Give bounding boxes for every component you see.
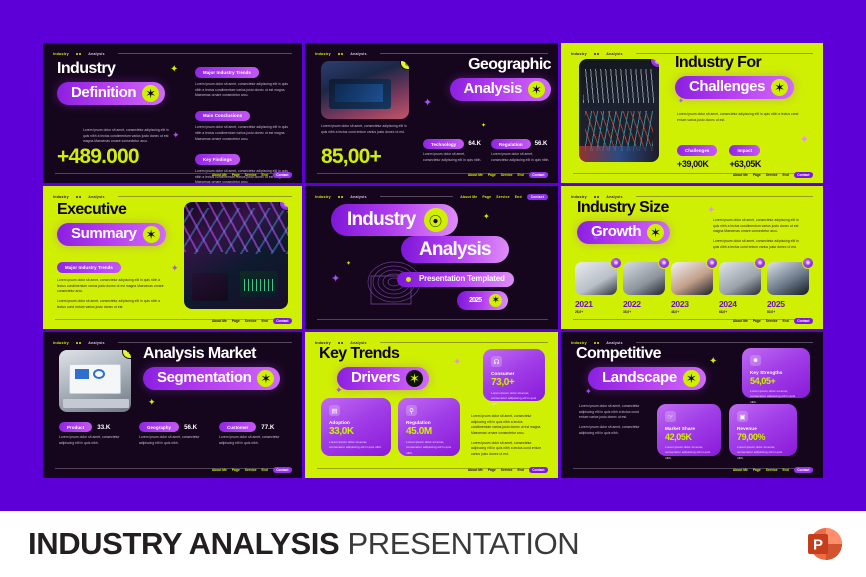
top-nav-cta[interactable]: Contact [527, 194, 548, 200]
asterisk-icon: ✶ [406, 370, 423, 387]
slide7-stat-text: Lorem ipsum dolor sit amet, consectetur … [219, 435, 290, 446]
slide2-title-line1: Geographic [423, 57, 551, 74]
slide-geographic-analysis[interactable]: Industry Analysis ◉ Lorem ipsum dolor si… [305, 43, 558, 183]
caption-bar: INDUSTRY ANALYSIS PRESENTATION P [0, 508, 866, 577]
slide2-title-pill-label: Analysis [464, 81, 523, 97]
slide-bottom-nav: About Me Page Service End Contact [733, 172, 813, 178]
slide7-heading: Analysis Market Segmentation ✶ [143, 346, 293, 390]
slide2-stat-pill[interactable]: Technology [423, 139, 464, 149]
slide-executive-summary[interactable]: Industry Analysis Executive Summary ✶ Ma… [43, 186, 302, 329]
slide6-year-label: 2022 [623, 299, 665, 309]
slide8-card-label: Adoption [329, 420, 383, 425]
slide9-card-value: 54,05+ [750, 376, 802, 386]
nav-dots-icon [338, 53, 344, 55]
nav-brand: Industry [53, 195, 69, 199]
slide6-text-1: Lorem ipsum dolor sit amet, consectetur … [713, 218, 805, 235]
slide2-photo: ◉ [321, 61, 409, 119]
slide3-photo: ◉ [579, 59, 659, 162]
nav-dots-icon [594, 196, 600, 198]
slide8-card-consumer[interactable]: ☊ Consumer 73,0+ Lorem ipsum dolor sit a… [483, 349, 545, 401]
screenshot-root: Industry Analysis Industry Definition ✶ … [0, 0, 866, 577]
slide5-title-2-label: Analysis [419, 240, 491, 259]
slide2-stat-value: 56.K [535, 141, 548, 147]
bottom-nav-link[interactable]: About Me [212, 173, 227, 177]
slide1-title-pill[interactable]: Definition ✶ [57, 82, 165, 105]
slide8-title-pill-label: Drivers [351, 370, 400, 386]
chart-icon: ▤ [329, 405, 340, 416]
slide3-description: Lorem ipsum dolor sit amet, consectetur … [677, 112, 805, 123]
slide1-blocks: Major Industry Trends Lorem ipsum dolor … [195, 61, 291, 183]
slide-industry-analysis-title[interactable]: Industry Analysis About Me Page Service … [305, 186, 558, 329]
target-icon: ⦿ [424, 208, 448, 232]
nav-brand: Industry [315, 195, 331, 199]
slide1-block-text: Lorem ipsum dolor sit amet, consectetur … [195, 125, 291, 142]
slide6-title-pill-label: Growth [591, 224, 641, 240]
slide6-year-item[interactable]: ◉ 2022 35,0+ [623, 262, 665, 314]
slide9-card-text: Lorem ipsum dolor sit amet, consectetur … [665, 445, 713, 461]
bottom-nav-cta[interactable]: Contact [273, 318, 292, 324]
slide9-card-text: Lorem ipsum dolor sit amet, consectetur … [750, 389, 802, 405]
slide9-card-label: Market Share [665, 426, 713, 431]
slide6-year-label: 2023 [671, 299, 713, 309]
circle-badge-icon: ◉ [706, 257, 718, 269]
slide2-title-pill[interactable]: Analysis ✶ [450, 78, 552, 101]
slide1-block-pill[interactable]: Major Industry Trends [195, 67, 259, 77]
circle-badge-icon: ◉ [658, 257, 670, 269]
bottom-nav-link[interactable]: Page [753, 173, 761, 177]
bottom-nav-link[interactable]: Page [232, 468, 240, 472]
nav-dots-icon [338, 342, 344, 344]
slide7-stat: Product 33.K Lorem ipsum dolor sit amet,… [59, 422, 130, 447]
bottom-nav-link[interactable]: About Me [468, 468, 483, 472]
slide9-card-label: Revenue [737, 426, 789, 431]
slide3-stat: Impact +63,05K [729, 139, 760, 169]
slide5-title-row-1: Industry ⦿ [331, 204, 458, 236]
slide7-stat-text: Lorem ipsum dolor sit amet, consectetur … [59, 435, 130, 446]
nav-brand: Industry [315, 341, 331, 345]
bottom-nav-link[interactable]: Service [501, 468, 513, 472]
slide7-photo: ✚ [59, 350, 131, 412]
nav-secondary: Analysis [88, 341, 104, 345]
slide6-year-item[interactable]: ◉ 2025 80,0+ [767, 262, 809, 314]
bottom-nav-cta[interactable]: Contact [273, 172, 292, 178]
bottom-nav-link[interactable]: Service [245, 173, 257, 177]
slide7-stat-value: 56.K [184, 424, 197, 431]
dot-icon [406, 277, 411, 282]
nav-dots-icon [76, 196, 82, 198]
slide2-photo-badge: ◉ [400, 61, 409, 70]
slide6-year-sub: 26,0+ [575, 310, 617, 314]
bottom-nav-link[interactable]: Page [753, 468, 761, 472]
nav-secondary: Analysis [88, 195, 104, 199]
nav-brand: Industry [571, 341, 587, 345]
slide4-title-pill[interactable]: Summary ✶ [57, 223, 166, 246]
slide4-title-pill-label: Summary [71, 226, 137, 242]
slide3-stat-pill[interactable]: Challenges [677, 145, 717, 155]
top-nav-link[interactable]: About Me [460, 195, 477, 199]
slide6-text-2: Lorem ipsum dolor sit amet, consectetur … [713, 239, 805, 250]
bottom-nav-cta[interactable]: Contact [529, 467, 548, 473]
nav-secondary: Analysis [350, 52, 366, 56]
bottom-nav-link[interactable]: End [782, 468, 788, 472]
slide-bottom-nav: About Me Page Service End Contact [468, 172, 548, 178]
bottom-nav-link[interactable]: End [261, 468, 267, 472]
slide2-big-number: 85,00+ [321, 145, 381, 169]
slide1-title-line1: Industry [57, 61, 187, 78]
asterisk-icon: ✶ [647, 224, 664, 241]
slide6-year-photo: ◉ [623, 262, 665, 295]
slide6-year-label: 2021 [575, 299, 617, 309]
nav-secondary: Analysis [606, 195, 622, 199]
slide4-block-pill[interactable]: Major Industry Trends [57, 262, 121, 272]
slide5-subtitle-label: Presentation Templated [419, 275, 505, 283]
slide3-title-line1: Industry For [675, 55, 815, 72]
slide-bottom-nav: About Me Page Service End Contact [212, 467, 292, 473]
slide8-card-value: 45.0M [406, 426, 452, 437]
slide2-heading: Geographic Analysis ✶ [423, 57, 551, 101]
nav-brand: Industry [571, 52, 587, 56]
slide8-description: Lorem ipsum dolor sit amet, consectetur … [471, 414, 543, 458]
slide9-title-line1: Competitive [576, 346, 716, 363]
slide6-year-item[interactable]: ◉ 2021 26,0+ [575, 262, 617, 314]
slide6-year-photo: ◉ [575, 262, 617, 295]
slide7-title-pill-label: Segmentation [157, 370, 251, 386]
slide6-year-sub: 68,0+ [719, 310, 761, 314]
slide1-block: Major Industry Trends Lorem ipsum dolor … [195, 61, 291, 99]
money-icon: ▣ [737, 411, 748, 422]
slide9-text-1: Lorem ipsum dolor sit amet, consectetur … [579, 404, 649, 421]
bottom-nav-link[interactable]: Service [766, 468, 778, 472]
slide7-stat-text: Lorem ipsum dolor sit amet, consectetur … [139, 435, 210, 446]
slide3-stat: Challenges +39,00K [677, 139, 717, 169]
slide2-stat: Technology 64.K Lorem ipsum dolor sit am… [423, 139, 483, 164]
bottom-nav-link[interactable]: Service [245, 468, 257, 472]
globe-icon: ☊ [491, 356, 502, 367]
bottom-nav-link[interactable]: Service [501, 173, 513, 177]
sparkle-icon: ✦ [481, 123, 486, 129]
asterisk-icon: ✶ [257, 370, 274, 387]
sparkle-icon: ✦ [800, 135, 809, 146]
slide3-photo-badge: ◉ [650, 59, 659, 68]
slide-bottom-rule [317, 319, 548, 320]
slide6-year-item[interactable]: ◉ 2023 48,0+ [671, 262, 713, 314]
slide6-year-label: 2024 [719, 299, 761, 309]
bottom-nav-cta[interactable]: Contact [794, 318, 813, 324]
bottom-nav-link[interactable]: End [782, 173, 788, 177]
slide7-stat-value: 77.K [261, 424, 274, 431]
slide7-stat-pill[interactable]: Product [59, 422, 92, 432]
caption-title: INDUSTRY ANALYSIS PRESENTATION [28, 526, 579, 562]
slide6-year-sub: 80,0+ [767, 310, 809, 314]
slide-bottom-nav: About Me Page Service End Contact [468, 467, 548, 473]
slide7-stat-value: 33.K [97, 424, 110, 431]
slide3-description-text: Lorem ipsum dolor sit amet, consectetur … [677, 112, 805, 123]
slide2-stat-pill[interactable]: Regulation [491, 139, 531, 149]
slide4-title-line1: Executive [57, 202, 187, 219]
bottom-nav-link[interactable]: About Me [733, 468, 748, 472]
nav-rule [380, 53, 548, 54]
slide5-title-row-2: Analysis [401, 236, 509, 263]
nav-rule [636, 196, 813, 197]
slide2-description: Lorem ipsum dolor sit amet, consectetur … [321, 124, 409, 135]
slide-industry-size-growth[interactable]: Industry Analysis Industry Size Growth ✶… [561, 186, 823, 329]
bottom-nav-link[interactable]: Page [488, 173, 496, 177]
slide6-title-line1: Industry Size [577, 200, 702, 217]
slide9-card-market-share[interactable]: ☞ Market Share 42,05K Lorem ipsum dolor … [657, 404, 721, 456]
slide6-year-photo: ◉ [767, 262, 809, 295]
search-icon: ⚲ [406, 405, 417, 416]
slide7-title-line1: Analysis Market [143, 346, 293, 363]
slide2-stats: Technology 64.K Lorem ipsum dolor sit am… [423, 139, 553, 164]
slide1-block-pill[interactable]: Key Findings [195, 154, 240, 164]
nav-secondary: Analysis [350, 195, 366, 199]
slide8-text-2: Lorem ipsum dolor sit amet, consectetur … [471, 441, 543, 458]
slide9-card-label: Key Strengths [750, 370, 802, 375]
slide8-text-1: Lorem ipsum dolor sit amet, consectetur … [471, 414, 543, 437]
nav-dots-icon [76, 342, 82, 344]
slide3-title-pill[interactable]: Challenges ✶ [675, 76, 794, 99]
slide-bottom-nav: About Me Page Service End Contact [212, 172, 292, 178]
nav-dots-icon [594, 342, 600, 344]
slide2-stat-value: 64.K [468, 141, 481, 147]
slide5-subtitle-pill[interactable]: Presentation Templated [397, 272, 514, 286]
slide5-year-row: 2025 ✶ [457, 289, 508, 310]
nav-dots-icon [76, 53, 82, 55]
nav-brand: Industry [571, 195, 587, 199]
slide8-card-text: Lorem ipsum dolor sit amet, consectetur … [491, 391, 537, 407]
slide6-year-sub: 48,0+ [671, 310, 713, 314]
bottom-nav-link[interactable]: Page [753, 319, 761, 323]
slide4-heading: Executive Summary ✶ [57, 202, 187, 246]
slide1-block-text: Lorem ipsum dolor sit amet, consectetur … [195, 82, 291, 99]
asterisk-icon: ✶ [771, 79, 788, 96]
slide6-title-pill[interactable]: Growth ✶ [577, 221, 670, 244]
nav-rule [118, 53, 292, 54]
bottom-nav-link[interactable]: End [782, 319, 788, 323]
slide8-card-text: Lorem ipsum dolor sit amet, consectetur … [329, 440, 383, 451]
circle-badge-icon: ◉ [754, 257, 766, 269]
powerpoint-logo-letter: P [813, 537, 823, 554]
user-icon: ☻ [750, 355, 761, 366]
nav-secondary: Analysis [88, 52, 104, 56]
slide1-block: Main Conclusions Lorem ipsum dolor sit a… [195, 104, 291, 142]
nav-brand: Industry [315, 52, 331, 56]
bottom-nav-link[interactable]: Service [766, 173, 778, 177]
slide3-stats: Challenges +39,00K Impact +63,05K [677, 139, 761, 169]
bottom-nav-link[interactable]: End [517, 468, 523, 472]
slide5-subtitle-row: Presentation Templated [397, 269, 514, 287]
slide-industry-for-challenges[interactable]: Industry Analysis ◉ Industry For Challen… [561, 43, 823, 183]
slide1-big-number: +489.000 [57, 145, 139, 169]
slide1-block-pill[interactable]: Main Conclusions [195, 111, 250, 121]
bottom-nav-link[interactable]: Service [245, 319, 257, 323]
bottom-nav-link[interactable]: About Me [733, 319, 748, 323]
nav-secondary: Analysis [606, 341, 622, 345]
slide-industry-definition[interactable]: Industry Analysis Industry Definition ✶ … [43, 43, 302, 183]
slide9-description: Lorem ipsum dolor sit amet, consectetur … [579, 404, 649, 436]
sparkle-icon: ✦ [483, 213, 490, 221]
slide5-year-label: 2025 [469, 297, 481, 304]
slide9-text-2: Lorem ipsum dolor sit amet, consectetur … [579, 425, 649, 436]
slide8-card-label: Consumer [491, 371, 537, 376]
slide4-photo: ◉ [184, 202, 288, 309]
bottom-nav-link[interactable]: Page [232, 173, 240, 177]
bottom-nav-link[interactable]: About Me [212, 319, 227, 323]
bottom-nav-link[interactable]: Page [488, 468, 496, 472]
sparkle-icon: ✦ [346, 261, 351, 267]
slide-topnav: Industry Analysis [53, 49, 292, 58]
slide5-title-pill-1[interactable]: Industry ⦿ [331, 204, 458, 236]
slide1-title-pill-label: Definition [71, 85, 136, 101]
slide3-stat-value: +39,00K [677, 159, 717, 169]
slide2-stat-text: Lorem ipsum dolor sit amet, consectetur … [491, 152, 551, 163]
slide3-stat-value: +63,05K [729, 159, 760, 169]
bottom-nav-cta[interactable]: Contact [273, 467, 292, 473]
slide-bottom-nav: About Me Page Service End Contact [733, 318, 813, 324]
slide4-text-1: Lorem ipsum dolor sit amet, consectetur … [57, 278, 167, 295]
slide7-stat-pill[interactable]: Geography [139, 422, 179, 432]
slide8-card-value: 73,0+ [491, 377, 537, 388]
slide9-card-value: 79,00% [737, 432, 789, 442]
slide7-stats: Product 33.K Lorem ipsum dolor sit amet,… [59, 422, 290, 447]
slide8-card-label: Regulation [406, 420, 452, 425]
slide-competitive-landscape[interactable]: Industry Analysis Competitive Landscape … [561, 332, 823, 478]
bottom-nav-cta[interactable]: Contact [794, 467, 813, 473]
nav-rule [636, 342, 813, 343]
bottom-nav-link[interactable]: End [517, 173, 523, 177]
slide4-text-2: Lorem ipsum dolor sit amet, consectetur … [57, 299, 167, 310]
slide6-heading: Industry Size Growth ✶ [577, 200, 702, 244]
nav-secondary: Analysis [606, 52, 622, 56]
slide2-description-text: Lorem ipsum dolor sit amet, consectetur … [321, 124, 409, 135]
nav-rule [118, 342, 292, 343]
slide4-body: Major Industry Trends Lorem ipsum dolor … [57, 256, 167, 310]
slide2-stat: Regulation 56.K Lorem ipsum dolor sit am… [491, 139, 551, 164]
bottom-nav-link[interactable]: About Me [212, 468, 227, 472]
nav-dots-icon [594, 53, 600, 55]
slide9-heading: Competitive Landscape ✶ [576, 346, 716, 390]
slide-grid: Industry Analysis Industry Definition ✶ … [43, 43, 823, 475]
slide6-year-photo: ◉ [719, 262, 761, 295]
asterisk-icon: ✶ [683, 370, 700, 387]
slide6-year-sub: 35,0+ [623, 310, 665, 314]
sparkle-icon: ✦ [171, 264, 179, 273]
circle-badge-icon: ◉ [610, 257, 622, 269]
slide9-card-revenue[interactable]: ▣ Revenue 79,00% Lorem ipsum dolor sit a… [729, 404, 797, 456]
nav-rule [118, 196, 292, 197]
nav-secondary: Analysis [350, 341, 366, 345]
slide8-title-pill[interactable]: Drivers ✶ [337, 367, 429, 390]
slide7-stat: Customer 77.K Lorem ipsum dolor sit amet… [219, 422, 290, 447]
slide5-title-pill-2[interactable]: Analysis [401, 236, 509, 263]
sparkle-icon: ✦ [453, 358, 461, 368]
slide9-card-key-strengths[interactable]: ☻ Key Strengths 54,05+ Lorem ipsum dolor… [742, 348, 810, 398]
top-nav-link[interactable]: End [515, 195, 522, 199]
slide-bottom-nav: About Me Page Service End Contact [212, 318, 292, 324]
slide9-title-pill-label: Landscape [602, 370, 677, 386]
sparkle-icon: ✦ [331, 274, 340, 285]
slide-topnav: Industry Analysis About Me Page Service … [315, 192, 548, 201]
nav-rule [380, 342, 548, 343]
slide7-stat: Geography 56.K Lorem ipsum dolor sit ame… [139, 422, 210, 447]
bottom-nav-link[interactable]: About Me [733, 173, 748, 177]
caption-title-bold: INDUSTRY ANALYSIS [28, 526, 339, 561]
slide6-year-label: 2025 [767, 299, 809, 309]
slide-key-trends-drivers[interactable]: Industry Analysis Key Trends Drivers ✶ [305, 332, 558, 478]
nav-dots-icon [338, 196, 344, 198]
nav-rule [380, 196, 454, 197]
circle-badge-icon: ◉ [802, 257, 814, 269]
bottom-nav-cta[interactable]: Contact [794, 172, 813, 178]
slide6-year-item[interactable]: ◉ 2024 68,0+ [719, 262, 761, 314]
slide5-year-pill[interactable]: 2025 ✶ [457, 291, 508, 310]
sparkle-icon: ✦ [148, 398, 156, 407]
bottom-nav-link[interactable]: About Me [468, 173, 483, 177]
slide5-topnav-links: About Me Page Service End Contact [460, 194, 548, 200]
slide1-description: Lorem ipsum dolor sit amet, consectetur … [83, 128, 175, 145]
bottom-nav-link[interactable]: End [261, 173, 267, 177]
slide8-card-regulation[interactable]: ⚲ Regulation 45.0M Lorem ipsum dolor sit… [398, 398, 460, 456]
slide7-title-pill[interactable]: Segmentation ✶ [143, 367, 280, 390]
sparkle-icon: ✦ [707, 206, 715, 216]
slide7-stat-pill[interactable]: Customer [219, 422, 256, 432]
megaphone-icon: ☞ [665, 411, 676, 422]
presentation-preview-canvas: Industry Analysis Industry Definition ✶ … [0, 0, 866, 508]
slide9-card-text: Lorem ipsum dolor sit amet, consectetur … [737, 445, 789, 461]
slide5-title-1-label: Industry [347, 210, 416, 229]
slide6-timeline: ◉ 2021 26,0+ ◉ 2022 35,0+ ◉ 2023 48,0+ [575, 262, 809, 314]
top-nav-link[interactable]: Page [482, 195, 491, 199]
slide3-title-pill-label: Challenges [689, 79, 765, 95]
powerpoint-logo: P [804, 524, 844, 564]
slide7-photo-badge: ✚ [122, 350, 131, 359]
slide8-card-adoption[interactable]: ▤ Adoption 33,0K Lorem ipsum dolor sit a… [321, 398, 391, 456]
slide8-card-text: Lorem ipsum dolor sit amet, consectetur … [406, 440, 452, 456]
nav-brand: Industry [53, 341, 69, 345]
slide1-heading: Industry Definition ✶ [57, 61, 187, 105]
slide9-card-value: 42,05K [665, 432, 713, 442]
slide8-title-line1: Key Trends [319, 346, 444, 363]
slide1-description-text: Lorem ipsum dolor sit amet, consectetur … [83, 128, 175, 145]
caption-title-light: PRESENTATION [348, 526, 580, 561]
asterisk-icon: ✶ [143, 226, 160, 243]
asterisk-icon: ✶ [142, 85, 159, 102]
bottom-nav-link[interactable]: Service [766, 319, 778, 323]
nav-brand: Industry [53, 52, 69, 56]
sparkle-icon: ✦ [678, 98, 684, 105]
bottom-nav-cta[interactable]: Contact [529, 172, 548, 178]
top-nav-link[interactable]: Service [496, 195, 509, 199]
slide8-card-value: 33,0K [329, 426, 383, 437]
slide6-year-photo: ◉ [671, 262, 713, 295]
slide3-heading: Industry For Challenges ✶ [675, 55, 815, 99]
slide-analysis-market-segmentation[interactable]: Industry Analysis ✚ Analysis Market Segm… [43, 332, 302, 478]
slide3-stat-pill[interactable]: Impact [729, 145, 760, 155]
asterisk-icon: ✶ [489, 294, 502, 307]
slide-bottom-nav: About Me Page Service End Contact [733, 467, 813, 473]
slide9-title-pill[interactable]: Landscape ✶ [588, 367, 706, 390]
slide-topnav: Industry Analysis [53, 192, 292, 201]
bottom-nav-link[interactable]: End [261, 319, 267, 323]
slide2-stat-text: Lorem ipsum dolor sit amet, consectetur … [423, 152, 483, 163]
slide6-description: Lorem ipsum dolor sit amet, consectetur … [713, 218, 805, 250]
asterisk-icon: ✶ [528, 81, 545, 98]
slide8-heading: Key Trends Drivers ✶ [319, 346, 444, 390]
bottom-nav-link[interactable]: Page [232, 319, 240, 323]
